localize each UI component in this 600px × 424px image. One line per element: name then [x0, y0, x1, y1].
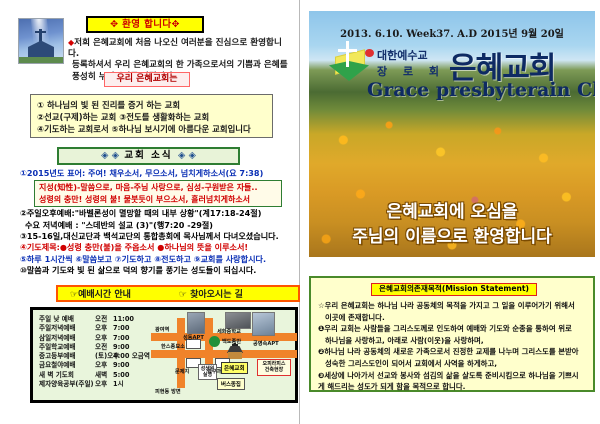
welcome-line-1: 저희 은혜교회에 처음 나오신 여러분을 진심으로 환영합니다. [68, 38, 282, 59]
schedule-meridiem: 오후 [95, 324, 113, 333]
map-label-1: 성동APT [183, 334, 204, 341]
welcome-line-2: 등록하셔서 우리 은혜교회의 한 가족으로서의 기쁨과 은혜를 [72, 60, 288, 70]
denomination-line-2: 장 로 회 [377, 63, 445, 79]
church-marker-icon [227, 343, 243, 359]
road-horizontal-main [151, 350, 297, 358]
cathedral-thumbnail [187, 312, 205, 334]
table-row: 주일학교예배 오전 9:00 [39, 343, 151, 352]
road-vertical-left [177, 318, 185, 388]
schedule-name: 제자양육공부(주일) [39, 380, 95, 389]
mission-statement-title: 은혜교회의존재목적(Mission Statement) [371, 283, 537, 296]
schedule-meridiem: 오후 [95, 334, 113, 343]
church-name-english: Grace presbyterain Church [367, 79, 595, 101]
identity-line-1: ① 하나님의 빛 된 진리를 증거 하는 교회 [37, 99, 266, 111]
map-label-6: 문제지 [175, 368, 189, 375]
schedule-time: 9:00 [113, 343, 129, 352]
schedule-time: 5:00 [113, 371, 129, 380]
mission-statement-body: ☆우리 은혜교회는 하나님 나라 공동체의 목적을 가지고 그 일을 이루어가기… [318, 301, 590, 394]
schedule-time: 11:00 [113, 315, 134, 324]
map-label-4: 백도종만 [222, 338, 241, 345]
welcome-subtitle: 우리 은혜교회는 [104, 72, 190, 87]
map-church-label: 은혜교회 [221, 362, 248, 374]
tab-service-times[interactable]: ☞예배시간 안내 [70, 287, 131, 300]
mission-point-1a: ❶우리 교회는 사람들을 그리스도께로 인도하여 예배와 기도와 순종을 통하여… [318, 324, 590, 335]
news-item-1: ①2015년도 표어: 주여! 채우소서, 무으소서, 넘치게하소서(요 7:3… [20, 168, 294, 179]
news-verse-line-1: 지성(知性)-말씀으로, 마음-주님 사랑으로, 심성-구원받은 자들.. [39, 182, 277, 193]
tab-directions[interactable]: ☞ 찾아오시는 길 [179, 287, 243, 300]
schedule-meridiem: 오후 [95, 380, 113, 389]
school-thumbnail [225, 312, 251, 329]
hero-welcome-line-2: 주님의 이름으로 환영합니다 [309, 222, 595, 247]
table-row: 주일 낮 예배 오전 11:00 [39, 315, 151, 324]
church-building-shape [28, 39, 54, 58]
schedule-meridiem: 새벽 [95, 371, 113, 380]
news-item-4: ④기도제목:●성령 충만(불)을 주옵소서 ●하나님의 뜻을 이루소서! [20, 242, 294, 253]
table-row: 새 벽 기도회 새벽 5:00 [39, 371, 151, 380]
table-row: 삼일저녁예배 오후 7:00 [39, 334, 151, 343]
map-bus-terminal-label: 버스종집 [217, 378, 245, 390]
mission-statement-box: 은혜교회의존재목적(Mission Statement) ☆우리 은혜교회는 하… [309, 276, 595, 392]
news-deco-left: ◈ ◈ [101, 150, 119, 161]
news-deco-right: ◈ ◈ [178, 150, 196, 161]
map-label-0: 광여역 [155, 326, 169, 333]
map-construction-site-label: 오피라피스건축현장 [257, 359, 291, 376]
schedule-time: 9:00 [113, 361, 129, 370]
news-header-label: 교회 소식 [124, 150, 172, 161]
schedule-and-map-frame: 주일 낮 예배 오전 11:00 주일저녁예배 오후 7:00 삼일저녁예배 오… [30, 307, 298, 403]
schedule-time: 4:00 오금역 [113, 352, 150, 361]
news-item-3: ③15-16일,대신교단과 백석교단의 통합총회에 목사님께서 다녀오셨습니다. [20, 231, 294, 242]
hero-welcome-line-1: 은혜교회에 오심을 [309, 197, 595, 222]
schedule-time: 7:00 [113, 334, 129, 343]
mission-point-2a: ❷하나님 나라 공동체의 새로운 가족으로서 진정한 교제를 나누며 그리스도를… [318, 347, 590, 358]
news-item-2b: 수요 저녁예배 : "스데반의 설교 (3)"(행7:20 -29절) [20, 220, 294, 231]
church-photo [18, 18, 64, 64]
map-label-5: 공영속APT [253, 340, 279, 347]
schedule-name: 주일 낮 예배 [39, 315, 95, 324]
news-item-6: ⑩말씀과 기도와 빛 된 삶으로 덕의 향기를 풍기는 성도들이 되십시다. [20, 265, 294, 276]
mission-point-3b: 게 해드리는 성도가 되게 함을 목적으로 합니다. [318, 382, 590, 393]
schedule-name: 주일학교예배 [39, 343, 95, 352]
welcome-title: ✥ 환영 합니다✥ [86, 16, 204, 33]
church-identity-box: ① 하나님의 빛 된 진리를 증거 하는 교회 ②선교(구제)하는 교회 ③전도… [30, 94, 273, 138]
subway-station-marker [209, 336, 220, 347]
church-news-body: ①2015년도 표어: 주여! 채우소서, 무으소서, 넘치게하소서(요 7:3… [20, 168, 294, 277]
schedule-name: 주일저녁예배 [39, 324, 95, 333]
identity-line-2: ②선교(구제)하는 교회 ③전도를 생활화하는 교회 [37, 111, 266, 123]
location-map[interactable]: 성생원실명 광여역 성동APT 한스종묘소 세화중학교 백도종만 공영속APT … [153, 312, 295, 400]
mission-point-2b: 성숙한 그리스도인이 되어서 교회에서 사역을 하게하고, [318, 359, 590, 370]
mission-point-1b: 하나님을 사랑하고, 아래로 사람(이웃)을 사랑하며, [318, 336, 590, 347]
schedule-name: 삼일저녁예배 [39, 334, 95, 343]
table-row: 제자양육공부(주일) 오후 1시 [39, 380, 151, 389]
cover-hero-image: 2013. 6.10. Week37. A.D 2015년 9월 20일 대한예… [309, 11, 595, 257]
news-item-2: ②주일오후예배:"바벨론성이 멸망할 때의 내부 상황"(계17:18-24절) [20, 208, 294, 219]
schedule-time: 7:00 [113, 324, 129, 333]
bulletin-date: 2013. 6.10. Week37. A.D 2015년 9월 20일 [309, 25, 595, 40]
map-label-8: 피현동 방면 [155, 388, 181, 395]
schedule-meridiem: 오후 [95, 361, 113, 370]
schedule-name: 새 벽 기도회 [39, 371, 95, 380]
apartment-thumbnail [252, 312, 275, 336]
identity-line-3: ④기도하는 교회로서 ⑤하나님 보시기에 아름다운 교회입니다 [37, 123, 266, 135]
grass-strip [19, 57, 63, 63]
left-page: ✥ 환영 합니다✥ ◆저희 은혜교회에 처음 나오신 여러분을 진심으로 환영합… [0, 0, 300, 424]
news-verse-line-2: 성령의 충만! 성령의 불! 물붓듯이 부으소서, 흘러넘치게하소서 [39, 194, 277, 205]
mission-intro-1: ☆우리 은혜교회는 하나님 나라 공동체의 목적을 가지고 그 일을 이루어가기… [318, 301, 590, 312]
schedule-time: 1시 [113, 380, 124, 389]
right-page: 2013. 6.10. Week37. A.D 2015년 9월 20일 대한예… [301, 0, 600, 424]
worship-schedule-table: 주일 낮 예배 오전 11:00 주일저녁예배 오후 7:00 삼일저녁예배 오… [39, 315, 151, 389]
schedule-meridiem: 오전 [95, 315, 113, 324]
map-label-3: 세화중학교 [217, 328, 241, 335]
church-news-header: ◈ ◈ 교회 소식 ◈ ◈ [57, 147, 240, 165]
schedule-name: 금요철야예배 [39, 361, 95, 370]
mission-point-3a: ❸세상에 나아가서 선교와 봉사와 섬김의 삶을 살도록 준비시킴으로 하나님을… [318, 371, 590, 382]
table-row: 금요철야예배 오후 9:00 [39, 361, 151, 370]
news-item-5: ⑤하루 1시간씩 ⑥말씀보고 ⑦기도하고 ⑧전도하고 ⑨교회를 사랑합시다. [20, 254, 294, 265]
map-label-7: 학구과 [207, 368, 221, 375]
info-tabs-bar: ☞예배시간 안내 ☞ 찾아오시는 길 [56, 285, 300, 302]
denomination-line-1: 대한예수교 [377, 47, 428, 63]
news-verse-box: 지성(知性)-말씀으로, 마음-주님 사랑으로, 심성-구원받은 자들.. 성령… [34, 180, 282, 207]
mission-intro-2: 이곳에 존재합니다. [318, 313, 590, 324]
map-label-2: 한스종묘소 [161, 343, 185, 350]
schedule-meridiem: 오전 [95, 343, 113, 352]
steeple-shape [39, 29, 42, 42]
table-row: 주일저녁예배 오후 7:00 [39, 324, 151, 333]
